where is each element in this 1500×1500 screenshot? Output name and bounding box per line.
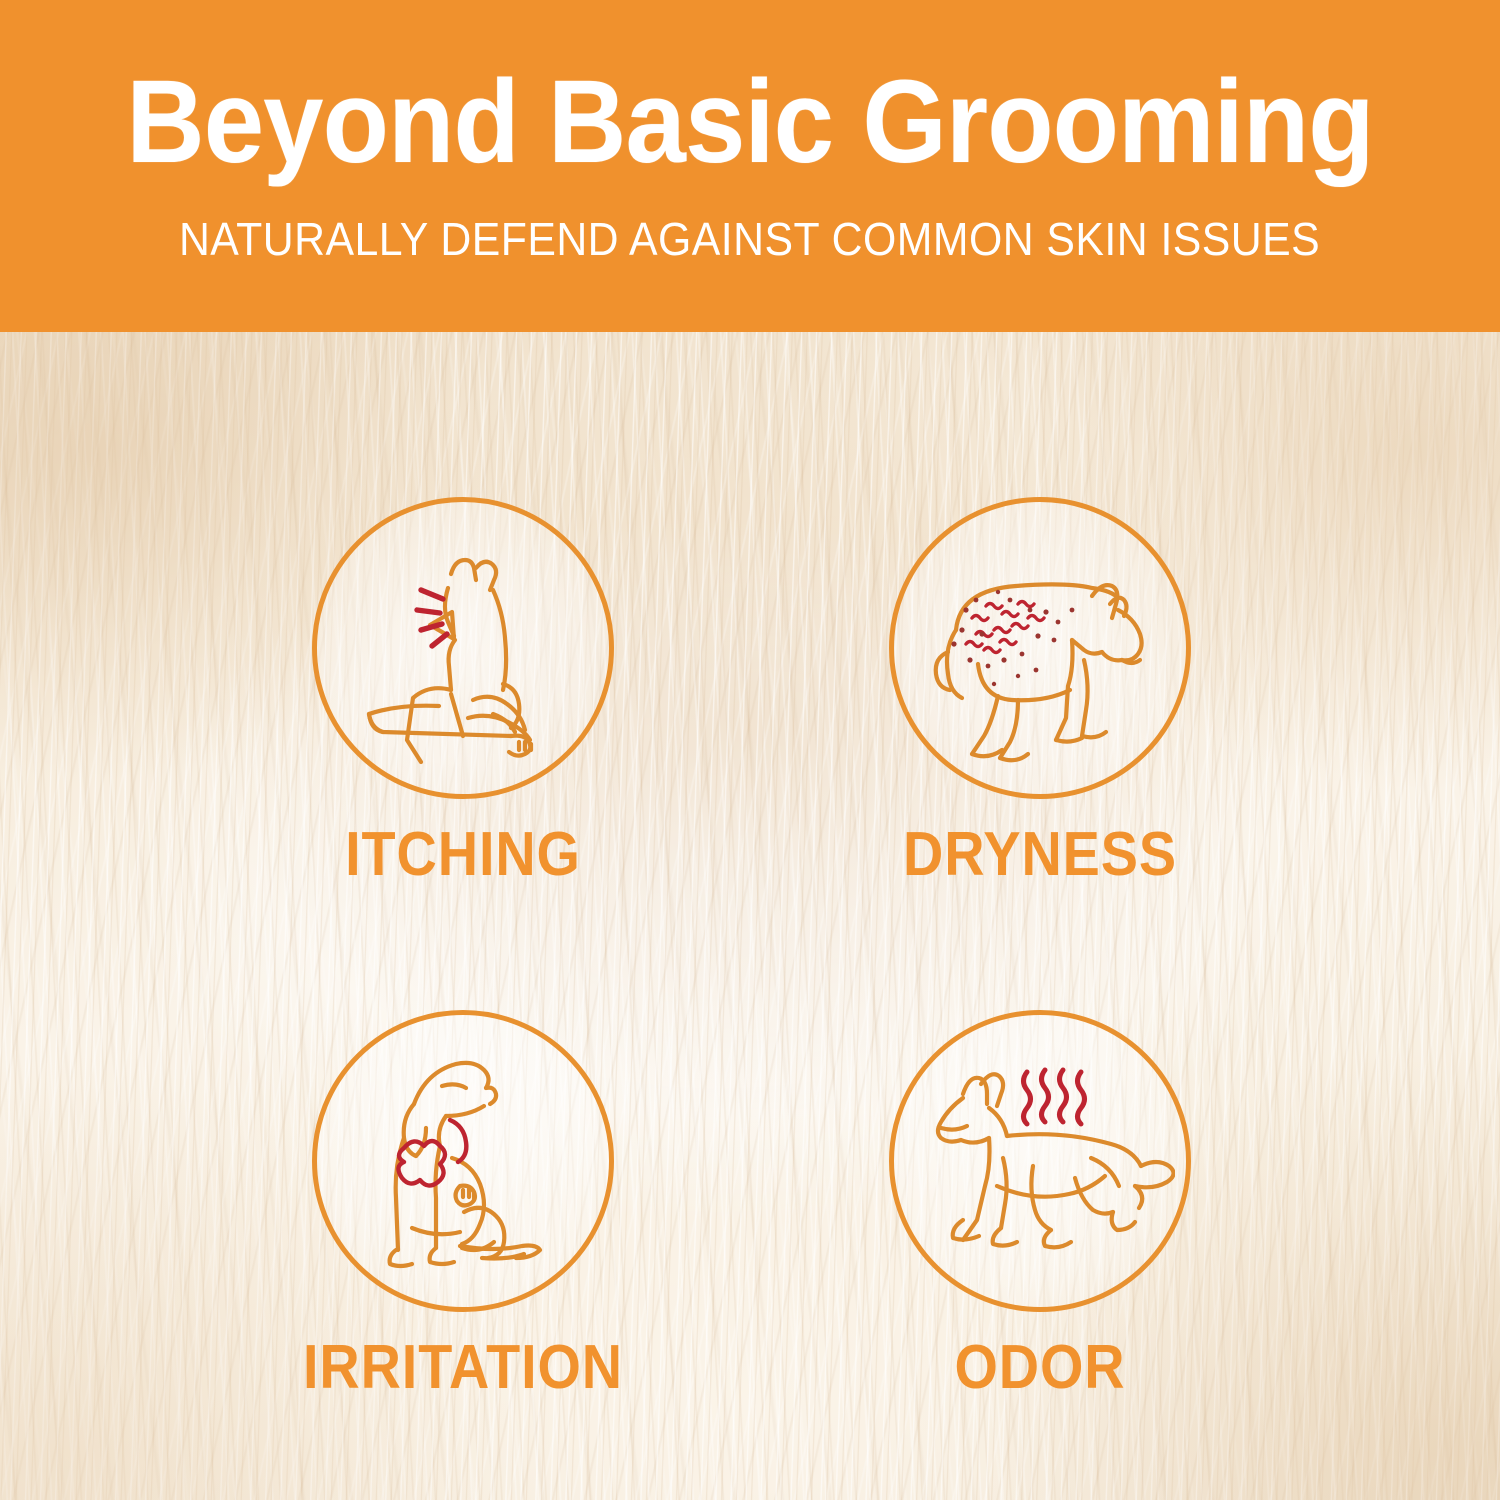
icon-circle-irritation	[312, 1010, 614, 1312]
page-subtitle: NATURALLY DEFEND AGAINST COMMON SKIN ISS…	[179, 212, 1320, 266]
header-band: Beyond Basic Grooming NATURALLY DEFEND A…	[0, 0, 1500, 332]
skin-issue-item-dryness[interactable]: DRYNESS	[790, 497, 1290, 890]
icon-circle-itching	[312, 497, 614, 799]
skin-issue-label-itching: ITCHING	[238, 819, 688, 890]
dog-irritated-patch-icon	[332, 1030, 594, 1292]
promo-banner: Beyond Basic Grooming NATURALLY DEFEND A…	[0, 0, 1500, 1500]
dog-odor-icon	[905, 1026, 1175, 1296]
irritation-mark-secondary	[450, 1120, 466, 1162]
skin-issue-item-irritation[interactable]: IRRITATION	[213, 1010, 713, 1403]
skin-issue-grid: ITCHING	[0, 332, 1500, 1500]
skin-issue-label-odor: ODOR	[815, 1332, 1265, 1403]
dryness-flakes	[966, 602, 1044, 653]
skin-issue-label-dryness: DRYNESS	[815, 819, 1265, 890]
icon-circle-dryness	[889, 497, 1191, 799]
skin-issue-label-irritation: IRRITATION	[238, 1332, 688, 1403]
icon-circle-odor	[889, 1010, 1191, 1312]
dog-scratching-icon	[333, 518, 593, 778]
skin-issue-item-itching[interactable]: ITCHING	[213, 497, 713, 890]
odor-stink-lines	[1024, 1070, 1085, 1124]
dog-flaky-skin-icon	[906, 514, 1174, 782]
skin-issue-item-odor[interactable]: ODOR	[790, 1010, 1290, 1403]
page-title: Beyond Basic Grooming	[126, 62, 1373, 182]
